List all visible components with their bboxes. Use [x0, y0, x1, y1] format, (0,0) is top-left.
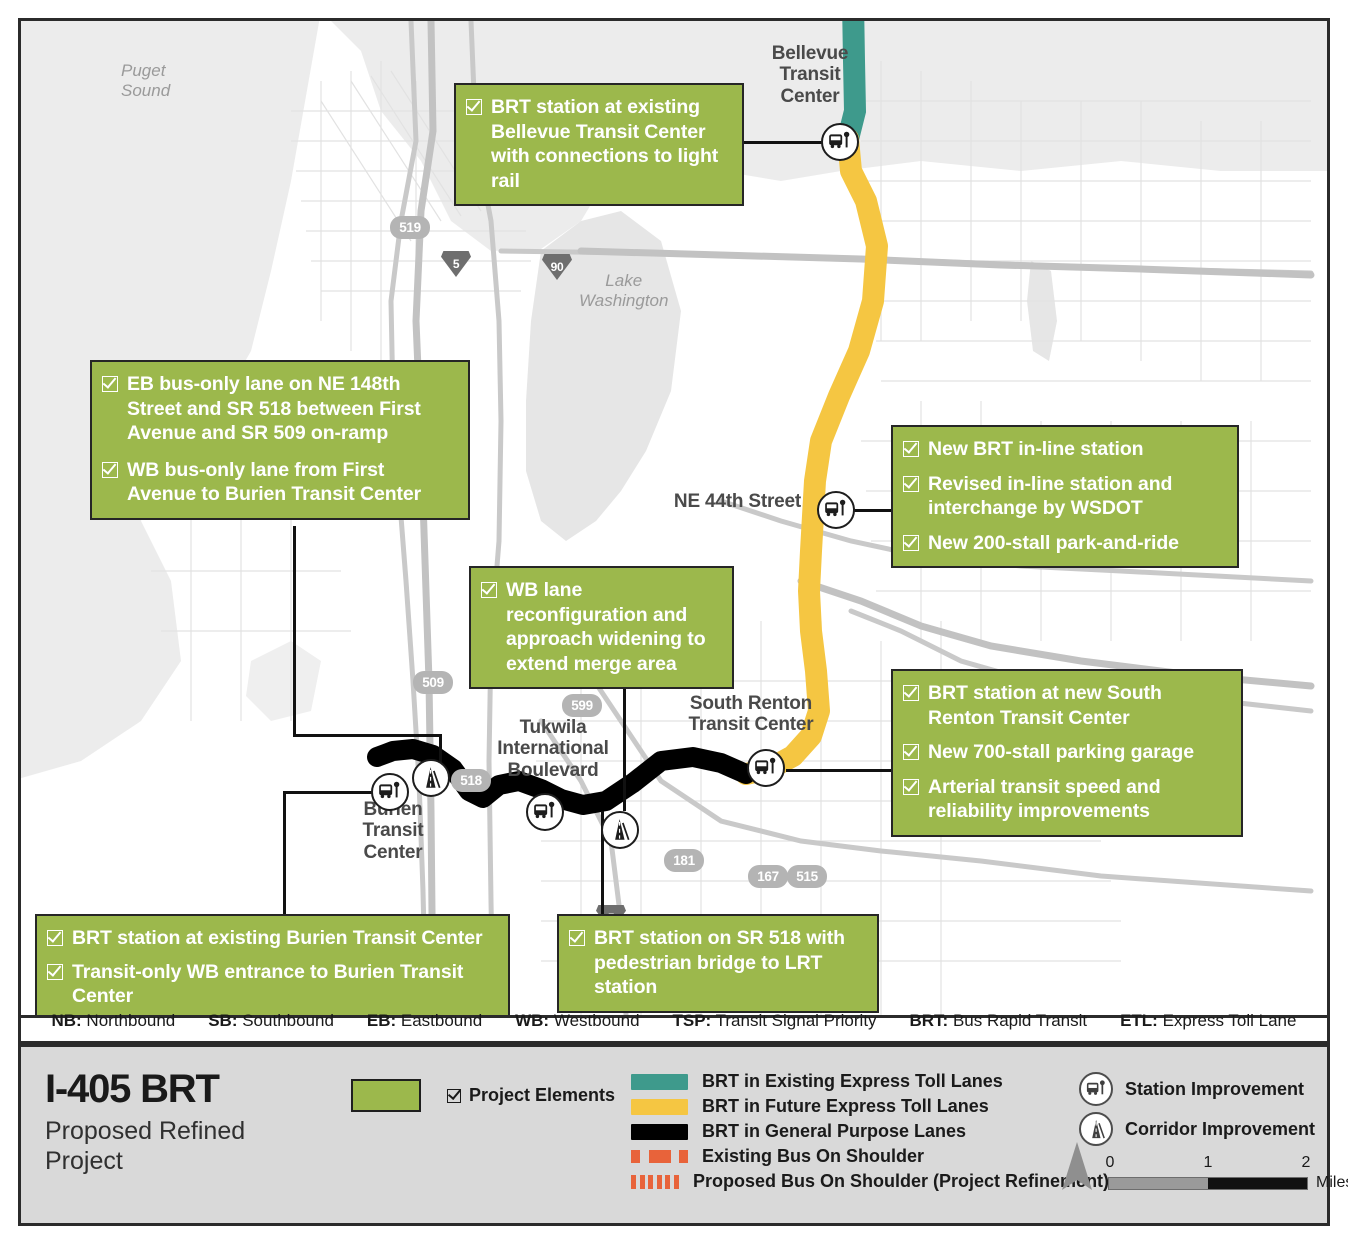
legend-line-styles: BRT in Existing Express Toll Lanes BRT i…: [631, 1069, 1109, 1194]
legend-future-etl[interactable]: BRT in Future Express Toll Lanes: [631, 1094, 1109, 1119]
ne-44th-street-label: NE 44th Street: [631, 491, 801, 512]
legend-station-improvement[interactable]: Station Improvement: [1079, 1069, 1315, 1109]
callout-item: BRT station at existing Burien Transit C…: [47, 926, 494, 951]
shield-519-icon: 519: [390, 216, 430, 239]
checkbox-icon: [903, 744, 919, 760]
scale-units-label: Miles: [1316, 1174, 1348, 1192]
callout-item: BRT station at existing Bellevue Transit…: [466, 95, 728, 193]
tukwila-international-boulevard-label: Tukwila International Boulevard: [473, 717, 633, 781]
legend-swatch-black: [631, 1124, 688, 1140]
marker-corridor-west[interactable]: [412, 759, 450, 797]
shield-599-icon: 599: [562, 694, 602, 717]
scale-tick-2: 2: [1302, 1154, 1311, 1172]
project-elements-label-row: Project Elements: [447, 1085, 615, 1106]
page-subtitle: Proposed Refined Project: [45, 1117, 325, 1176]
project-elements-label: Project Elements: [469, 1085, 615, 1106]
checkbox-icon: [47, 930, 63, 946]
shield-518-icon: 518: [451, 769, 491, 792]
map-canvas[interactable]: Puget Sound Lake Washington Bellevue Tra…: [18, 18, 1330, 1018]
leader-bellevue: [743, 141, 825, 144]
checkbox-icon: [466, 99, 482, 115]
scale-tick-labels: 0 1 2: [1108, 1154, 1308, 1174]
bellevue-transit-center-label: Bellevue Transit Center: [747, 43, 873, 107]
callout-bellevue[interactable]: BRT station at existing Bellevue Transit…: [454, 83, 744, 206]
callout-item: Revised in-line station and interchange …: [903, 472, 1223, 521]
checkbox-icon: [447, 1089, 461, 1103]
marker-bellevue-station[interactable]: [821, 123, 859, 161]
callout-item: EB bus-only lane on NE 148th Street and …: [102, 372, 454, 446]
legend-project-elements[interactable]: Project Elements: [351, 1079, 615, 1112]
bus-station-icon: [1079, 1072, 1113, 1106]
checkbox-icon: [903, 685, 919, 701]
leader-wb-v: [623, 669, 626, 811]
bus-station-icon: [377, 779, 403, 805]
checkbox-icon: [47, 964, 63, 980]
marker-burien-station[interactable]: [371, 773, 409, 811]
checkbox-icon: [903, 476, 919, 492]
checkbox-icon: [569, 930, 585, 946]
abbrev-etl: ETL: Express Toll Lane: [1120, 1011, 1296, 1031]
legend-existing-etl[interactable]: BRT in Existing Express Toll Lanes: [631, 1069, 1109, 1094]
abbrev-brt: BRT: Bus Rapid Transit: [909, 1011, 1087, 1031]
callout-item: WB lane reconfiguration and approach wid…: [481, 578, 718, 676]
checkbox-icon: [903, 535, 919, 551]
legend-existing-bus-shoulder[interactable]: Existing Bus On Shoulder: [631, 1144, 1109, 1169]
callout-item: New BRT in-line station: [903, 437, 1223, 462]
abbrev-wb: WB: Westbound: [515, 1011, 639, 1031]
callout-wb-lane-reconfiguration[interactable]: WB lane reconfiguration and approach wid…: [469, 566, 734, 689]
corridor-icon: [607, 817, 633, 843]
legend-general-purpose[interactable]: BRT in General Purpose Lanes: [631, 1119, 1109, 1144]
callout-item: WB bus-only lane from First Avenue to Bu…: [102, 458, 454, 507]
callout-bus-only-lanes[interactable]: EB bus-only lane on NE 148th Street and …: [90, 360, 470, 520]
callout-item: BRT station on SR 518 with pedestrian br…: [569, 926, 863, 1000]
callout-ne-44th[interactable]: New BRT in-line station Revised in-line …: [891, 425, 1239, 568]
corridor-icon: [418, 765, 444, 791]
checkbox-icon: [102, 376, 118, 392]
page-title: I-405 BRT: [45, 1069, 325, 1109]
checkbox-icon: [481, 582, 497, 598]
scale-bar-group: 0 1 2 Miles: [1060, 1140, 1348, 1192]
shield-509-icon: 509: [413, 671, 453, 694]
project-elements-swatch: [351, 1079, 421, 1112]
marker-ne-44th-station[interactable]: [817, 491, 855, 529]
callout-item: BRT station at new South Renton Transit …: [903, 681, 1227, 730]
scale-tick-1: 1: [1204, 1154, 1213, 1172]
scale-tick-0: 0: [1106, 1154, 1115, 1172]
map-infographic: Puget Sound Lake Washington Bellevue Tra…: [0, 0, 1348, 1244]
marker-tukwila-station[interactable]: [526, 793, 564, 831]
bus-station-icon: [827, 129, 853, 155]
callout-item: New 700-stall parking garage: [903, 740, 1227, 765]
bus-station-icon: [532, 799, 558, 825]
abbrev-nb: NB: Northbound: [51, 1011, 175, 1031]
abbrev-tsp: TSP: Transit Signal Priority: [672, 1011, 876, 1031]
callout-south-renton[interactable]: BRT station at new South Renton Transit …: [891, 669, 1243, 837]
checkbox-icon: [903, 441, 919, 457]
shield-181-icon: 181: [664, 849, 704, 872]
leader-buslane-v: [293, 526, 296, 736]
north-arrow-icon: [1060, 1140, 1094, 1192]
callout-sr518[interactable]: BRT station on SR 518 with pedestrian br…: [557, 914, 879, 1013]
south-renton-transit-center-label: South Renton Transit Center: [661, 693, 841, 736]
abbreviation-key: NB: Northbound SB: Southbound EB: Eastbo…: [18, 1000, 1330, 1044]
leader-buslane-h: [293, 734, 441, 737]
bus-station-icon: [823, 497, 849, 523]
shield-167-icon: 167: [748, 865, 788, 888]
puget-sound-label: Puget Sound: [121, 61, 170, 100]
callout-item: New 200-stall park-and-ride: [903, 531, 1223, 556]
legend-swatch-dashed-orange: [631, 1149, 688, 1165]
legend-swatch-yellow: [631, 1099, 688, 1115]
abbrev-eb: EB: Eastbound: [367, 1011, 482, 1031]
marker-south-renton-station[interactable]: [747, 749, 785, 787]
legend-swatch-dotted-orange: [631, 1174, 679, 1190]
abbrev-sb: SB: Southbound: [208, 1011, 334, 1031]
legend-proposed-bus-shoulder[interactable]: Proposed Bus On Shoulder (Project Refine…: [631, 1169, 1109, 1194]
marker-corridor-east[interactable]: [601, 811, 639, 849]
shield-515-icon: 515: [787, 865, 827, 888]
callout-item: Arterial transit speed and reliability i…: [903, 775, 1227, 824]
legend-swatch-teal: [631, 1074, 688, 1090]
legend-panel: I-405 BRT Proposed Refined Project Proje…: [18, 1044, 1330, 1226]
scale-bar: [1108, 1177, 1308, 1190]
checkbox-icon: [903, 779, 919, 795]
brand-block: I-405 BRT Proposed Refined Project: [45, 1069, 325, 1176]
bus-station-icon: [753, 755, 779, 781]
lake-washington-label: Lake Washington: [579, 271, 668, 310]
checkbox-icon: [102, 462, 118, 478]
legend-marker-types: Station Improvement Corridor Improvement: [1079, 1069, 1315, 1149]
